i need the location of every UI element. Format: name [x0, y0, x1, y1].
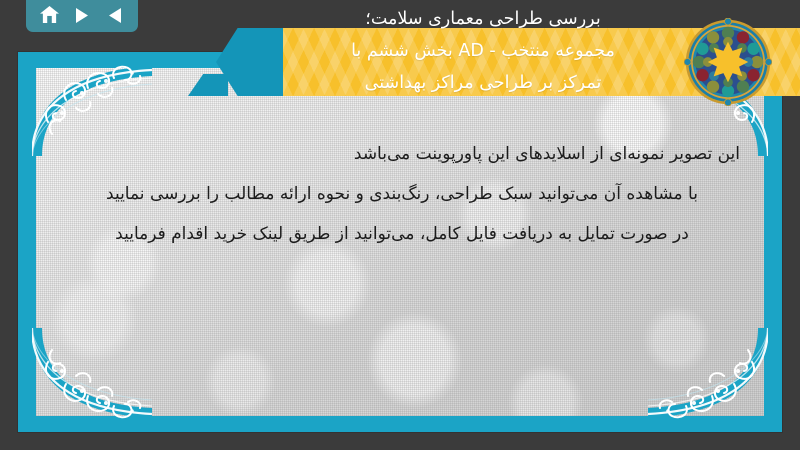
page-title-line-3: تمرکز بر طراحی مراکز بهداشتی: [283, 67, 683, 99]
triangle-right-icon[interactable]: [69, 3, 95, 27]
page-title-line-1: بررسی طراحی معماری سلامت؛: [283, 3, 683, 35]
triangle-left-icon[interactable]: [102, 3, 128, 27]
slide-frame: این تصویر نمونه‌ای از اسلایدهای این پاور…: [18, 52, 782, 432]
slide-viewer: بررسی طراحی معماری سلامت؛ مجموعه منتخب -…: [0, 0, 800, 450]
navigation-toolbar[interactable]: [26, 0, 138, 32]
slide-text-line-2: با مشاهده آن می‌توانید سبک طراحی، رنگ‌بن…: [58, 174, 746, 214]
house-icon[interactable]: [36, 3, 62, 27]
page-title-line-2: مجموعه منتخب - AD بخش ششم با: [283, 35, 683, 67]
persian-medallion-icon: [684, 18, 772, 106]
slide-text-line-3: در صورت تمایل به دریافت فایل کامل، می‌تو…: [58, 214, 746, 254]
page-title: بررسی طراحی معماری سلامت؛ مجموعه منتخب -…: [283, 0, 683, 100]
slide-text-line-1: این تصویر نمونه‌ای از اسلایدهای این پاور…: [58, 134, 746, 174]
slide-text-block: این تصویر نمونه‌ای از اسلایدهای این پاور…: [58, 134, 746, 254]
